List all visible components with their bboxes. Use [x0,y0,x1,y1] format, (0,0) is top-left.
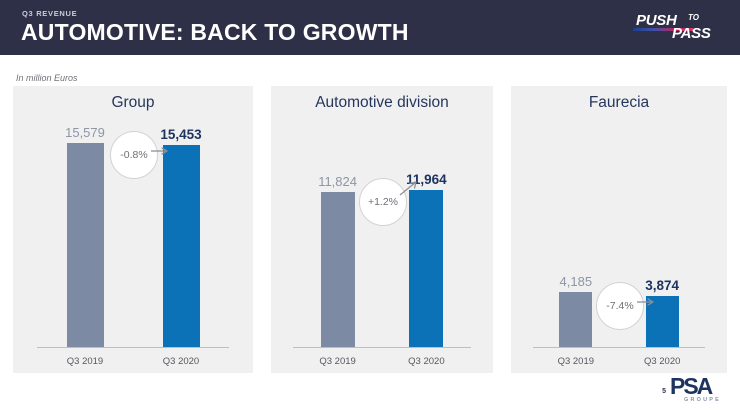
category-label: Q3 2020 [141,356,221,367]
header-kicker: Q3 REVENUE [22,9,77,18]
chart-axis-line [533,347,706,348]
logo-push-text: PUSH [636,12,676,29]
bar-current [163,145,200,347]
category-label: Q3 2019 [298,356,378,367]
bar-current [409,190,443,347]
delta-arrow-icon [150,140,172,167]
bar-value-label: 15,579 [45,125,125,140]
push-to-pass-logo: PUSH TO PASS [630,12,722,44]
chart-title: Automotive division [271,94,493,112]
chart-axis-line [293,347,471,348]
chart-plot-area: 11,824Q3 201911,964Q3 2020+1.2% [271,118,493,373]
chart-plot-area: 4,185Q3 20193,874Q3 2020-7.4% [511,118,727,373]
page-title: AUTOMOTIVE: BACK TO GROWTH [21,19,409,46]
category-label: Q3 2019 [536,356,616,367]
delta-arrow-icon [636,291,658,318]
chart-axis-line [37,347,229,348]
chart-title: Faurecia [511,94,727,112]
slide-header: Q3 REVENUE AUTOMOTIVE: BACK TO GROWTH PU… [0,0,740,55]
logo-to-text: TO [688,13,699,22]
slide: Q3 REVENUE AUTOMOTIVE: BACK TO GROWTH PU… [0,0,740,413]
chart-plot-area: 15,579Q3 201915,453Q3 2020-0.8% [13,118,253,373]
chart-panel-group: Group 15,579Q3 201915,453Q3 2020-0.8% [13,86,253,373]
category-label: Q3 2020 [622,356,702,367]
psa-sub-wordmark: GROUPE [684,397,721,403]
psa-groupe-logo: PSA GROUPE [670,373,732,407]
chart-panel-automotive-division: Automotive division 11,824Q3 201911,964Q… [271,86,493,373]
category-label: Q3 2020 [386,356,466,367]
chart-title: Group [13,94,253,112]
unit-note: In million Euros [16,73,78,83]
logo-pass-text: PASS [672,25,711,42]
bar-previous [559,292,592,347]
page-number: 5 [662,388,666,395]
chart-panel-faurecia: Faurecia 4,185Q3 20193,874Q3 2020-7.4% [511,86,727,373]
bar-previous [321,192,355,347]
psa-wordmark: PSA [670,373,711,400]
category-label: Q3 2019 [45,356,125,367]
delta-arrow-icon [399,178,421,205]
bar-previous [67,143,104,347]
